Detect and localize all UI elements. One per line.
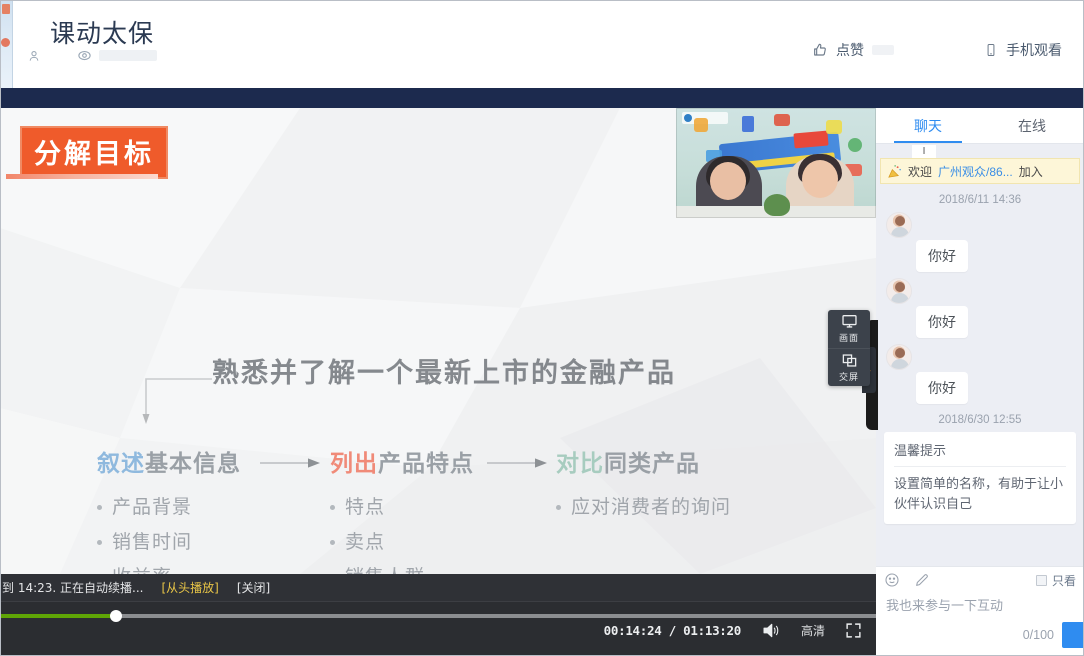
fullscreen-icon[interactable] — [845, 622, 862, 639]
slide-column-2: 列出产品特点 特点 卖点 销售人群 销售话术 — [330, 444, 474, 574]
presenter-video-thumbnail[interactable] — [676, 108, 876, 218]
slide-section-badge: 分解目标 — [20, 126, 168, 179]
swap-screen-icon — [841, 353, 858, 368]
avatar — [886, 212, 912, 238]
message-bubble: 你好 — [916, 240, 968, 272]
edge-artifact-2 — [1, 38, 10, 47]
slide-headline: 熟悉并了解一个最新上市的金融产品 — [212, 351, 676, 390]
stage-side-toolbar: 画面 交屏 — [828, 310, 870, 386]
tip-card-title: 温馨提示 — [894, 440, 1066, 467]
welcome-banner: 欢迎 广州观众/86... 加入 — [880, 158, 1080, 184]
bullet-label: 销售人群 — [345, 560, 425, 574]
welcome-suffix: 加入 — [1019, 163, 1043, 180]
chat-message: 你好 — [882, 278, 1078, 338]
column-3-bullets: 应对消费者的询问 — [556, 490, 731, 525]
checkbox-icon — [1036, 575, 1047, 586]
list-item: 特点 — [330, 490, 474, 525]
monitor-icon — [841, 314, 858, 329]
avatar — [886, 344, 912, 370]
live-classroom-window: 课动太保 — [0, 0, 1084, 656]
column-2-bullets: 特点 卖点 销售人群 销售话术 — [330, 490, 474, 574]
chat-message: 你好 — [882, 344, 1078, 404]
page-header: 课动太保 — [13, 0, 1084, 88]
tip-card: 温馨提示 设置简单的名称，有助于让小伙伴认识自己 — [884, 432, 1076, 524]
column-3-keyword: 对比 — [556, 451, 604, 477]
bullet-label: 应对消费者的询问 — [571, 490, 731, 525]
navy-divider-band — [0, 88, 1084, 108]
bullet-label: 卖点 — [345, 525, 385, 560]
message-bubble: 你好 — [916, 372, 968, 404]
chat-message-input[interactable]: 我也来参与一下互动 — [876, 593, 1084, 614]
mobile-phone-icon — [984, 42, 998, 58]
badge-underline — [6, 174, 158, 179]
edge-artifact — [2, 4, 10, 14]
tab-chat[interactable]: 聊天 — [876, 108, 980, 143]
character-counter: 0/100 — [1023, 628, 1054, 642]
bullet-label: 收益率 — [112, 560, 172, 574]
volume-icon[interactable] — [761, 622, 781, 639]
screen-view-label: 画面 — [839, 331, 859, 344]
slide-columns: 叙述基本信息 产品背景 销售时间 收益率 列出产品特点 特点 — [0, 444, 876, 574]
emoji-icon[interactable] — [884, 572, 900, 588]
chat-message-list[interactable]: 2018/6/11 14:36 你好 你好 你好 2018/6/30 12:55… — [876, 184, 1084, 566]
column-2-heading: 列出产品特点 — [330, 444, 474, 478]
mobile-watch-label: 手机观看 — [1006, 40, 1062, 60]
like-label: 点赞 — [836, 40, 864, 60]
column-1-keyword: 叙述 — [97, 451, 145, 477]
text-cursor-icon: I — [912, 145, 936, 158]
progress-handle[interactable] — [110, 610, 122, 622]
video-player-controls: 00:14:24 / 01:13:20 高清 — [0, 602, 876, 656]
swap-screen-label: 交屏 — [839, 370, 859, 383]
list-item: 产品背景 — [97, 490, 241, 525]
list-item: 收益率 — [97, 560, 241, 574]
avatar — [886, 278, 912, 304]
pencil-icon[interactable] — [914, 572, 930, 588]
like-count — [872, 45, 894, 55]
autoplay-message: 到 14:23. 正在自动续播... — [2, 579, 143, 596]
chat-message: 你好 — [882, 212, 1078, 272]
list-item: 应对消费者的询问 — [556, 490, 731, 525]
filter-only-checkbox[interactable]: 只看 — [1036, 572, 1076, 589]
view-count — [77, 48, 157, 63]
time-display: 00:14:24 / 01:13:20 — [604, 623, 741, 638]
bullet-dot-icon — [97, 505, 102, 510]
eye-icon — [77, 48, 92, 63]
list-item: 销售时间 — [97, 525, 241, 560]
view-count-value — [99, 50, 157, 61]
bullet-label: 销售时间 — [112, 525, 192, 560]
screen-view-button[interactable]: 画面 — [828, 310, 870, 348]
bullet-dot-icon — [330, 505, 335, 510]
user-icon — [27, 49, 41, 63]
swap-screen-button[interactable]: 交屏 — [828, 348, 870, 386]
send-button[interactable] — [1062, 622, 1084, 648]
page-title: 课动太保 — [50, 14, 154, 50]
slide-column-1: 叙述基本信息 产品背景 销售时间 收益率 — [97, 444, 241, 574]
chat-tab-bar: 聊天 在线 — [876, 108, 1084, 144]
message-timestamp: 2018/6/30 12:55 — [882, 414, 1078, 426]
column-2-keyword: 列出 — [330, 451, 378, 477]
current-time: 00:14:24 — [604, 623, 662, 638]
column-1-rest: 基本信息 — [145, 451, 241, 477]
party-popper-icon — [887, 164, 902, 179]
bullet-dot-icon — [330, 540, 335, 545]
total-time: 01:13:20 — [683, 623, 741, 638]
mobile-watch-button[interactable]: 手机观看 — [984, 40, 1062, 60]
message-timestamp: 2018/6/11 14:36 — [882, 194, 1078, 206]
autoplay-notice-bar: 到 14:23. 正在自动续播... [从头播放] [关闭] — [0, 574, 876, 602]
slide-column-3: 对比同类产品 应对消费者的询问 — [556, 444, 731, 525]
bullet-label: 产品背景 — [112, 490, 192, 525]
elbow-arrow — [142, 376, 214, 426]
quality-selector[interactable]: 高清 — [801, 622, 825, 639]
thumbs-up-icon — [812, 42, 828, 58]
column-connector-arrow-2 — [487, 456, 549, 470]
player-right-controls: 00:14:24 / 01:13:20 高清 — [604, 622, 862, 639]
column-connector-arrow-1 — [260, 456, 322, 470]
filter-only-label: 只看 — [1052, 572, 1076, 589]
bullet-dot-icon — [97, 540, 102, 545]
tab-online[interactable]: 在线 — [980, 108, 1084, 143]
chat-input-footer: 0/100 — [1023, 622, 1084, 648]
header-actions: 点赞 手机观看 — [812, 40, 1062, 60]
chat-input-area: 只看 我也来参与一下互动 0/100 — [876, 566, 1084, 656]
column-3-heading: 对比同类产品 — [556, 444, 731, 478]
column-1-heading: 叙述基本信息 — [97, 444, 241, 478]
column-1-bullets: 产品背景 销售时间 收益率 — [97, 490, 241, 574]
list-item: 卖点 — [330, 525, 474, 560]
progress-played — [0, 614, 116, 618]
welcome-prefix: 欢迎 — [908, 163, 932, 180]
welcome-user-name[interactable]: 广州观众/86... — [938, 163, 1013, 180]
like-button[interactable]: 点赞 — [812, 40, 894, 60]
column-3-rest: 同类产品 — [604, 451, 700, 477]
progress-bar[interactable] — [0, 614, 876, 618]
close-notice-link[interactable]: [关闭] — [237, 579, 270, 596]
tip-card-body: 设置简单的名称，有助于让小伙伴认识自己 — [894, 467, 1066, 514]
video-border — [676, 108, 876, 218]
header-meta — [27, 48, 157, 63]
chat-input-toolbar: 只看 — [876, 567, 1084, 593]
column-2-rest: 产品特点 — [378, 451, 474, 477]
message-bubble: 你好 — [916, 306, 968, 338]
replay-from-start-link[interactable]: [从头播放] — [161, 579, 218, 596]
window-left-edge — [0, 0, 13, 88]
time-separator: / — [669, 623, 676, 638]
host-info — [27, 49, 41, 63]
bullet-dot-icon — [556, 505, 561, 510]
list-item: 销售人群 — [330, 560, 474, 574]
bullet-label: 特点 — [345, 490, 385, 525]
